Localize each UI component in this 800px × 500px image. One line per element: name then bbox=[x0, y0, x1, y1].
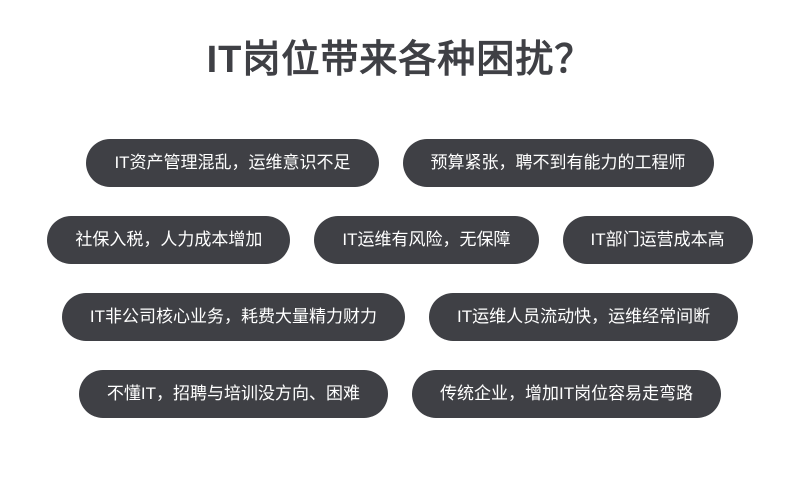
pain-point-pill[interactable]: IT非公司核心业务，耗费大量精力财力 bbox=[62, 293, 405, 341]
pill-row-4: 不懂IT，招聘与培训没方向、困难 传统企业，增加IT岗位容易走弯路 bbox=[0, 370, 800, 418]
pill-row-3: IT非公司核心业务，耗费大量精力财力 IT运维人员流动快，运维经常间断 bbox=[0, 293, 800, 341]
pill-label: 社保入税，人力成本增加 bbox=[75, 231, 262, 248]
pain-point-pill[interactable]: 不懂IT，招聘与培训没方向、困难 bbox=[79, 370, 388, 418]
pain-point-pill[interactable]: 预算紧张，聘不到有能力的工程师 bbox=[403, 139, 714, 187]
pill-label: IT资产管理混乱，运维意识不足 bbox=[114, 154, 350, 171]
poster-canvas: IT岗位带来各种困扰？ IT资产管理混乱，运维意识不足 预算紧张，聘不到有能力的… bbox=[0, 0, 800, 500]
pill-row-2: 社保入税，人力成本增加 IT运维有风险，无保障 IT部门运营成本高 bbox=[0, 216, 800, 264]
pain-point-pill[interactable]: IT运维人员流动快，运维经常间断 bbox=[429, 293, 738, 341]
pain-point-pill[interactable]: IT部门运营成本高 bbox=[563, 216, 753, 264]
pain-point-pill[interactable]: IT资产管理混乱，运维意识不足 bbox=[86, 139, 378, 187]
pain-point-pill[interactable]: 传统企业，增加IT岗位容易走弯路 bbox=[412, 370, 721, 418]
pill-label: IT部门运营成本高 bbox=[591, 231, 725, 248]
pill-label: IT运维人员流动快，运维经常间断 bbox=[457, 308, 710, 325]
pill-label: IT运维有风险，无保障 bbox=[342, 231, 510, 248]
pill-row-1: IT资产管理混乱，运维意识不足 预算紧张，聘不到有能力的工程师 bbox=[0, 139, 800, 187]
page-title: IT岗位带来各种困扰？ bbox=[207, 38, 594, 84]
pill-label: 不懂IT，招聘与培训没方向、困难 bbox=[107, 385, 360, 402]
pain-point-pill[interactable]: IT运维有风险，无保障 bbox=[314, 216, 538, 264]
pain-point-pill-list: IT资产管理混乱，运维意识不足 预算紧张，聘不到有能力的工程师 社保入税，人力成… bbox=[0, 139, 800, 418]
pill-label: 传统企业，增加IT岗位容易走弯路 bbox=[440, 385, 693, 402]
pill-label: 预算紧张，聘不到有能力的工程师 bbox=[431, 154, 686, 171]
pill-label: IT非公司核心业务，耗费大量精力财力 bbox=[90, 308, 377, 325]
pain-point-pill[interactable]: 社保入税，人力成本增加 bbox=[47, 216, 290, 264]
